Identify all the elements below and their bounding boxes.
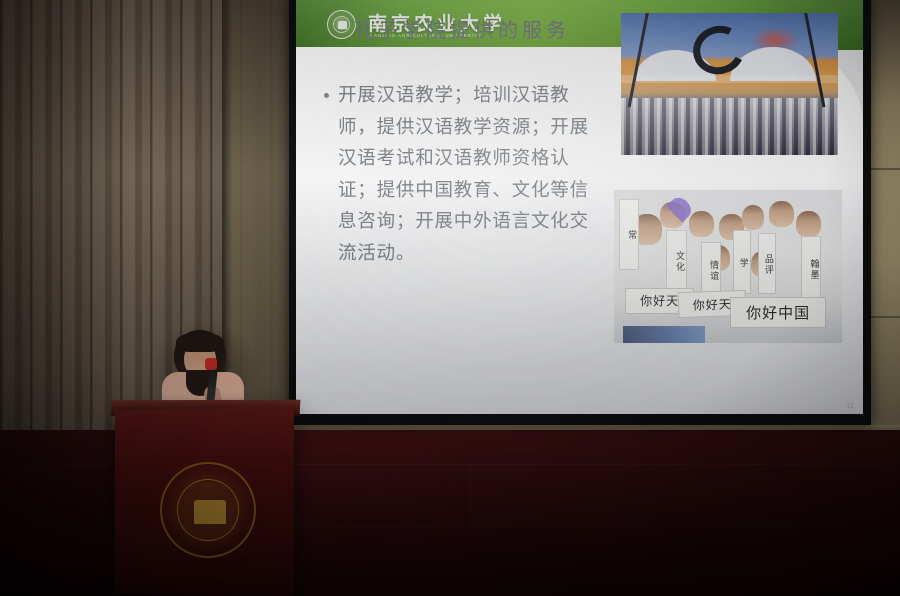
- university-seal-icon: [327, 10, 356, 39]
- person-head: [769, 201, 794, 227]
- hair-fringe: [176, 332, 224, 352]
- university-seal-icon: [160, 462, 256, 558]
- vertical-calligraphy-banner: 学: [733, 230, 751, 294]
- stage-performance-photo: [621, 13, 838, 155]
- photo-foreground-strip: [623, 326, 705, 343]
- vertical-calligraphy-banner: 常: [619, 199, 640, 269]
- person-head: [689, 211, 714, 237]
- calligraphy-banner: 你好中国: [730, 297, 826, 328]
- bullet-list-item: 开展汉语教学；培训汉语教师，提供汉语教学资源；开展汉语考试和汉语教师资格认证；提…: [324, 80, 609, 269]
- vertical-calligraphy-banner: 翰墨: [801, 236, 822, 300]
- projection-screen: 南京农业大学 NANJING AGRICULTURAL UNIVERSITY 孔…: [296, 0, 863, 414]
- microphone-head: [205, 358, 217, 370]
- lecture-hall-scene: 南京农业大学 NANJING AGRICULTURAL UNIVERSITY 孔…: [0, 0, 900, 596]
- bullet-text: 开展汉语教学；培训汉语教师，提供汉语教学资源；开展汉语考试和汉语教师资格认证；提…: [338, 80, 593, 269]
- stage-banner-strip: [621, 75, 838, 82]
- person-head: [796, 211, 821, 237]
- slide-title: 孔子学院提供的服务: [354, 14, 654, 43]
- vertical-calligraphy-banner: 文化: [666, 230, 687, 291]
- vertical-calligraphy-banner: 品评: [758, 233, 776, 294]
- vertical-calligraphy-banner: 情谊: [701, 242, 722, 297]
- bullet-dot-icon: [324, 93, 329, 98]
- person-head: [742, 205, 765, 229]
- slide-number: 12: [846, 403, 854, 410]
- panel-moulding: [470, 464, 471, 526]
- audience-crowd: [621, 98, 838, 155]
- students-calligraphy-photo: 常 文化 情谊 学 品评 翰墨 你好天 你好天 你好中国: [614, 190, 842, 343]
